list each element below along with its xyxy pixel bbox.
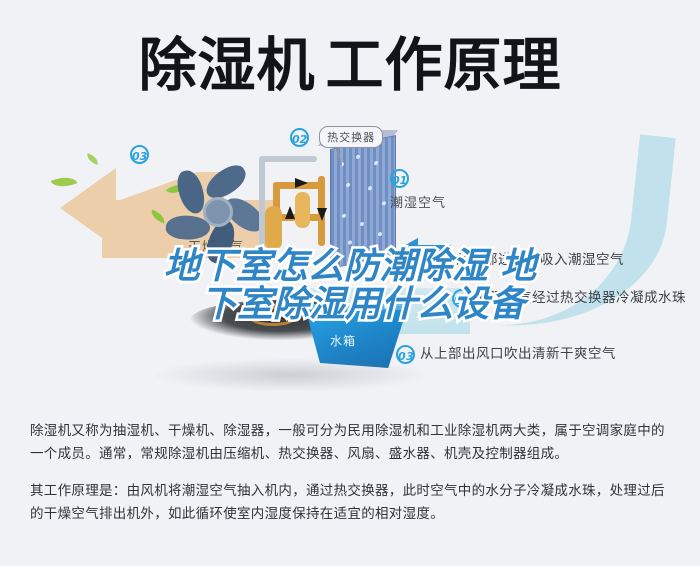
overlay-headline-line-1: 地下室怎么防潮除湿 地 bbox=[0, 248, 700, 286]
body-paragraph-2: 其工作原理是：由风机将潮湿空气抽入机内，通过热交换器，此时空气中的水分子冷凝成水… bbox=[30, 480, 676, 526]
title-part-1: 除湿机 bbox=[138, 31, 315, 99]
page-title: 除湿机工作原理 bbox=[0, 30, 700, 100]
body-paragraph-1: 除湿机又称为抽湿机、干燥机、除湿器，一般可分为民用除湿机和工业除湿机两大类，属于… bbox=[30, 420, 676, 466]
overlay-headline-line-2: 下室除湿用什么设备 bbox=[0, 286, 700, 324]
article-image: 除湿机工作原理 干燥空气 bbox=[0, 0, 700, 566]
step-item-03: 03从上部出风口吹出清新干爽空气 bbox=[396, 342, 616, 364]
overlay-headline: 地下室怎么防潮除湿 地 下室除湿用什么设备 bbox=[0, 248, 700, 324]
step-badge-03: 03 bbox=[396, 345, 415, 364]
body-copy: 除湿机又称为抽湿机、干燥机、除湿器，一般可分为民用除湿机和工业除湿机两大类，属于… bbox=[30, 420, 676, 535]
title-part-2: 工作原理 bbox=[326, 31, 562, 99]
step-text-03: 从上部出风口吹出清新干爽空气 bbox=[420, 346, 616, 362]
